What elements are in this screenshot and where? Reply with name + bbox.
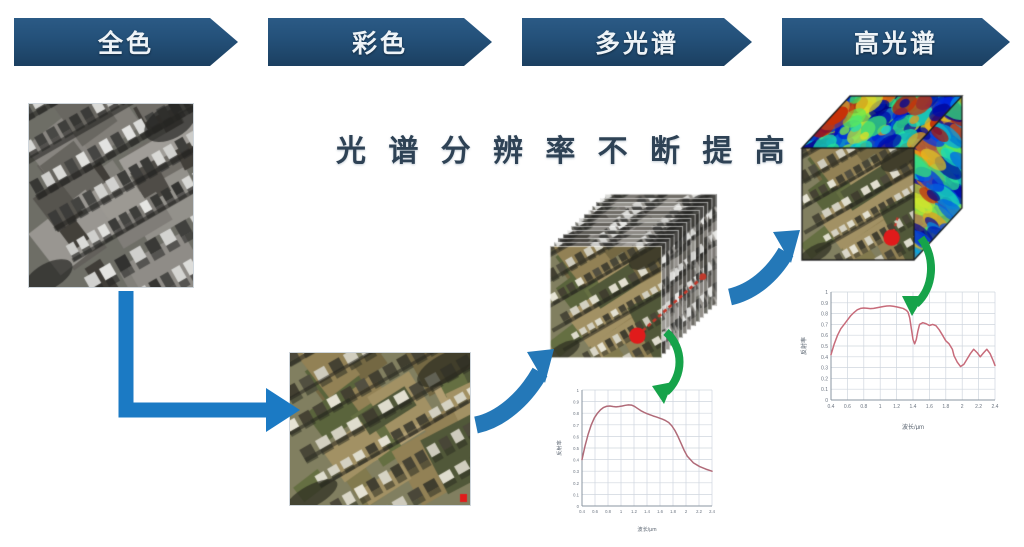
svg-text:1.6: 1.6 <box>657 509 663 514</box>
svg-text:1.4: 1.4 <box>644 509 650 514</box>
svg-text:0.4: 0.4 <box>573 458 579 463</box>
svg-text:1: 1 <box>620 509 623 514</box>
stage-banner-panchromatic[interactable]: 全色 <box>14 18 238 66</box>
svg-text:0.5: 0.5 <box>573 446 579 451</box>
hyperspectral-cube <box>800 92 966 264</box>
svg-text:0.6: 0.6 <box>573 434 579 439</box>
svg-text:2: 2 <box>961 404 964 410</box>
hyperspectral-spectrum-chart: 00.10.20.30.40.50.60.70.80.910.40.60.811… <box>795 282 1003 430</box>
svg-text:0.4: 0.4 <box>579 509 585 514</box>
svg-text:1.2: 1.2 <box>631 509 637 514</box>
svg-text:0.8: 0.8 <box>605 509 611 514</box>
svg-text:0.8: 0.8 <box>573 411 579 416</box>
svg-text:1.8: 1.8 <box>670 509 676 514</box>
page-title: 光 谱 分 辨 率 不 断 提 高 <box>336 126 792 170</box>
blue-curved-arrow-1-icon <box>476 349 554 425</box>
stage-banner-label: 高光谱 <box>854 24 938 60</box>
stage-banner-label: 全色 <box>98 24 154 60</box>
svg-text:2.4: 2.4 <box>992 404 999 410</box>
svg-text:2.2: 2.2 <box>696 509 702 514</box>
blue-elbow-arrow-icon <box>126 291 300 432</box>
svg-text:0.2: 0.2 <box>821 376 828 382</box>
svg-text:反射率: 反射率 <box>555 440 563 456</box>
svg-text:0.8: 0.8 <box>821 312 828 318</box>
stage-banner-color[interactable]: 彩色 <box>268 18 492 66</box>
svg-text:2: 2 <box>685 509 688 514</box>
slide-canvas: 全色 彩色 多光谱 高光谱 光 谱 分 辨 率 不 断 提 高 00.10.20… <box>0 0 1024 547</box>
svg-text:0.9: 0.9 <box>821 301 828 307</box>
svg-text:1.6: 1.6 <box>926 404 933 410</box>
svg-text:0.6: 0.6 <box>592 509 598 514</box>
svg-text:0.2: 0.2 <box>573 481 579 486</box>
svg-text:0.6: 0.6 <box>821 333 828 339</box>
svg-text:2.2: 2.2 <box>975 404 982 410</box>
panchromatic-image <box>29 104 193 287</box>
svg-text:波长/μm: 波长/μm <box>637 525 656 532</box>
svg-text:1: 1 <box>577 388 580 393</box>
svg-text:0.7: 0.7 <box>821 322 828 328</box>
svg-text:0.7: 0.7 <box>573 423 579 428</box>
svg-text:0.5: 0.5 <box>821 344 828 350</box>
stage-banner-multispectral[interactable]: 多光谱 <box>522 18 752 66</box>
stage-banner-label: 多光谱 <box>595 24 679 60</box>
multispectral-cube <box>548 192 724 364</box>
svg-text:1.8: 1.8 <box>942 404 949 410</box>
svg-text:1.2: 1.2 <box>893 404 900 410</box>
color-image <box>290 353 470 505</box>
svg-text:0.6: 0.6 <box>844 404 851 410</box>
svg-text:2.4: 2.4 <box>709 509 715 514</box>
svg-text:0.1: 0.1 <box>573 492 579 497</box>
svg-text:1.4: 1.4 <box>910 404 917 410</box>
svg-text:1: 1 <box>825 290 828 296</box>
stage-banner-label: 彩色 <box>352 24 408 60</box>
svg-text:1: 1 <box>879 404 882 410</box>
multispectral-spectrum-chart: 00.10.20.30.40.50.60.70.80.910.40.60.811… <box>552 382 718 532</box>
svg-text:0.4: 0.4 <box>821 355 828 361</box>
blue-curved-arrow-2-icon <box>730 230 800 297</box>
svg-text:0.3: 0.3 <box>573 469 579 474</box>
svg-text:反射率: 反射率 <box>800 337 808 355</box>
svg-text:0.9: 0.9 <box>573 400 579 405</box>
svg-text:波长/μm: 波长/μm <box>902 423 924 430</box>
svg-text:0.3: 0.3 <box>821 366 828 372</box>
svg-text:0.1: 0.1 <box>821 387 828 393</box>
svg-text:0.4: 0.4 <box>828 404 835 410</box>
svg-text:0.8: 0.8 <box>860 404 867 410</box>
stage-banner-hyperspectral[interactable]: 高光谱 <box>782 18 1010 66</box>
